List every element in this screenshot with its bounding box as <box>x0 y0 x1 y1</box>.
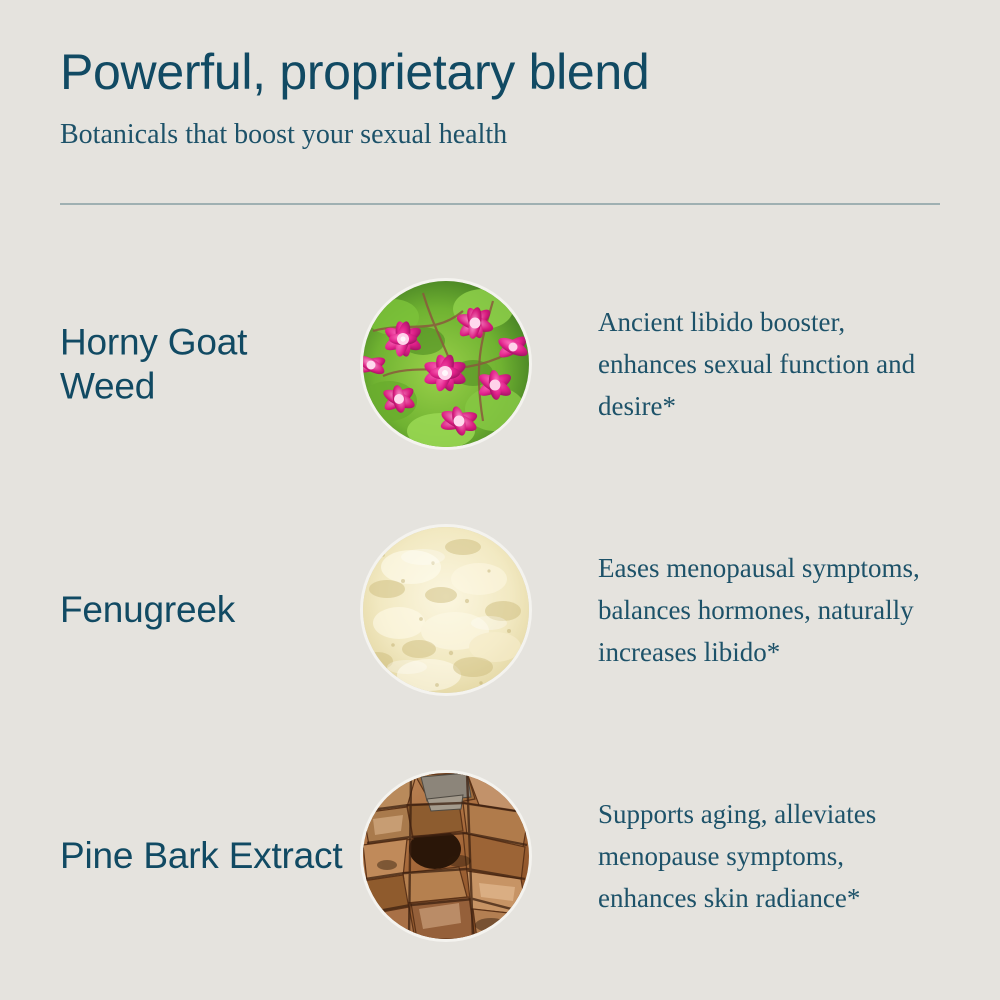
page-title: Powerful, proprietary blend <box>60 44 944 100</box>
header-divider <box>60 203 940 205</box>
list-item: Horny Goat Weed <box>0 252 1000 476</box>
ingredient-thumbnail-pine-bark <box>363 773 529 939</box>
ingredient-description: Ancient libido booster, enhances sexual … <box>598 301 948 427</box>
ingredient-description: Eases menopausal symptoms, balances horm… <box>598 547 948 673</box>
ingredient-list: Horny Goat Weed <box>0 252 1000 968</box>
ingredient-name: Fenugreek <box>60 588 350 632</box>
page-subtitle: Botanicals that boost your sexual health <box>60 118 944 152</box>
ingredient-description: Supports aging, alleviates menopause sym… <box>598 793 948 919</box>
header: Powerful, proprietary blend Botanicals t… <box>60 44 944 152</box>
powder-photo-icon <box>363 527 529 693</box>
ingredient-benefits-panel: Powerful, proprietary blend Botanicals t… <box>0 0 1000 1000</box>
list-item: Pine Bark Extract <box>0 744 1000 968</box>
flower-photo-icon <box>363 281 529 447</box>
ingredient-thumbnail-fenugreek <box>363 527 529 693</box>
ingredient-thumbnail-horny-goat-weed <box>363 281 529 447</box>
list-item: Fenugreek <box>0 498 1000 722</box>
bark-photo-icon <box>363 773 529 939</box>
ingredient-name: Pine Bark Extract <box>60 834 350 878</box>
ingredient-name: Horny Goat Weed <box>60 320 350 407</box>
